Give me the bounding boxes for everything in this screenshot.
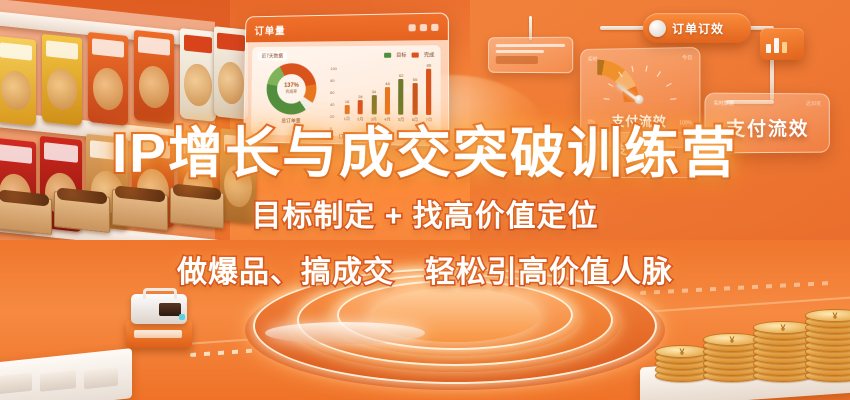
pos-indicator-led bbox=[179, 314, 185, 320]
y-tick: 80 bbox=[330, 78, 337, 83]
bar-column: 625月 bbox=[396, 63, 407, 123]
donut-center-label: 完成率 bbox=[286, 89, 298, 95]
bar-value: 62 bbox=[399, 73, 404, 78]
snack-bag-orange-2 bbox=[134, 30, 174, 124]
minimize-icon bbox=[409, 24, 416, 31]
gauge-corner-left: 实时 bbox=[588, 56, 598, 63]
bar-chart-icon[interactable] bbox=[760, 28, 804, 60]
snack-bag-yellow-2 bbox=[42, 34, 82, 126]
mini-card-line-1 bbox=[496, 44, 565, 47]
maximize-icon bbox=[420, 23, 427, 30]
subtitle-line-2: 做爆品、搞成交 轻松引高价值人脉 bbox=[0, 247, 850, 291]
coin-symbol: ¥ bbox=[729, 335, 734, 345]
window-controls[interactable] bbox=[409, 23, 439, 31]
bar-value: 18 bbox=[345, 99, 349, 104]
badge-label: 订单订效 bbox=[672, 20, 724, 37]
bar-column: 262月 bbox=[355, 63, 366, 122]
coin-symbol: ¥ bbox=[780, 323, 785, 333]
gauge-hub bbox=[635, 95, 644, 104]
donut-chart: 137% 完成率 总订单量 bbox=[257, 63, 327, 131]
snack-bag-yellow bbox=[0, 36, 36, 126]
bar-column: 181月 bbox=[342, 63, 353, 122]
bar-value: 26 bbox=[358, 94, 362, 99]
podium-white-plate bbox=[265, 322, 425, 344]
bar-value: 48 bbox=[385, 81, 390, 86]
bar-column: 484月 bbox=[382, 63, 393, 123]
connector-wire-left bbox=[600, 26, 646, 30]
y-tick: 40 bbox=[330, 102, 337, 107]
headline-group: IP增长与成交突破训练营 目标制定 + 找高价值定位 做爆品、搞成交 轻松引高价… bbox=[0, 126, 850, 291]
donut-center: 137% 完成率 bbox=[277, 74, 306, 104]
bar-column: 556月 bbox=[410, 63, 421, 123]
bar-value: 55 bbox=[413, 77, 418, 82]
right-card-top-left: 实时数据 bbox=[714, 100, 734, 107]
close-icon bbox=[431, 23, 438, 30]
mini-card-block bbox=[496, 56, 539, 64]
legend-swatch-target bbox=[384, 53, 391, 58]
page-title: IP增长与成交突破训练营 bbox=[0, 126, 850, 181]
chart-legend: 目标 完成 bbox=[384, 51, 434, 58]
mini-card-line-2 bbox=[496, 50, 544, 53]
subtitle-line-1: 目标制定 + 找高价值定位 bbox=[0, 191, 850, 235]
right-card-top-right: 近30天 bbox=[806, 100, 821, 107]
date-filter-chip[interactable]: 近7天数据 bbox=[258, 52, 287, 61]
y-tick: 60 bbox=[330, 90, 337, 95]
coin-symbol: ¥ bbox=[679, 347, 684, 357]
legend-swatch-done bbox=[412, 53, 419, 58]
y-tick: 100 bbox=[330, 66, 337, 71]
pos-terminal-body bbox=[131, 294, 187, 324]
dashboard-toolbar: 近7天数据 目标 完成 bbox=[258, 50, 435, 60]
dashboard-header: 订单量 bbox=[246, 13, 448, 42]
dashboard-title: 订单量 bbox=[254, 22, 285, 37]
pos-screen bbox=[159, 303, 181, 316]
order-efficiency-badge[interactable]: 订单订效 bbox=[643, 13, 751, 43]
bar-column: 867月 bbox=[423, 63, 434, 124]
badge-knob-icon bbox=[649, 20, 666, 37]
coin-symbol: ¥ bbox=[832, 311, 837, 321]
stat-mini-card[interactable] bbox=[488, 37, 573, 74]
bar-value: 34 bbox=[372, 89, 377, 94]
bar-column: 343月 bbox=[368, 63, 379, 123]
pos-terminal-base bbox=[126, 320, 192, 348]
poster-canvas: ¥ ¥ ¥ ¥ 订单量 bbox=[0, 0, 850, 400]
legend-label-target: 目标 bbox=[396, 52, 406, 59]
bar-value: 86 bbox=[427, 63, 432, 68]
legend-label-done: 完成 bbox=[424, 51, 434, 58]
snack-bag-orange bbox=[88, 32, 128, 126]
gauge-corner-right: 今日 bbox=[682, 54, 692, 61]
donut-ring: 137% 完成率 bbox=[266, 63, 316, 115]
y-tick: 20 bbox=[330, 114, 337, 119]
snack-bag-white bbox=[180, 28, 216, 122]
